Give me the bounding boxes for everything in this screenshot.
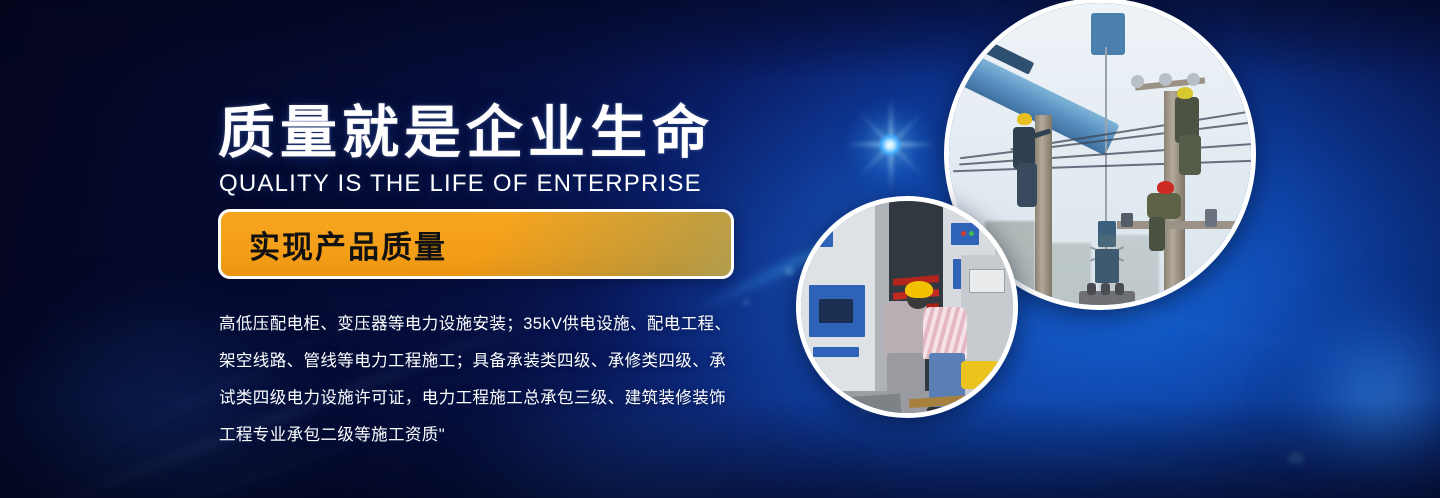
page-subtitle: QUALITY IS THE LIFE OF ENTERPRISE [219,170,702,198]
page-title: 质量就是企业生命 [218,104,714,164]
description-line: 架空线路、管线等电力工程施工；具备承装类四级、承修类四级、承 [219,343,779,380]
switchgear-workers-photo [796,196,1018,418]
description-line: 高低压配电柜、变压器等电力设施安装；35kV供电设施、配电工程、 [219,306,779,343]
description-paragraph: 高低压配电柜、变压器等电力设施安装；35kV供电设施、配电工程、 架空线路、管线… [219,306,779,454]
description-line: 试类四级电力设施许可证，电力工程施工总承包三级、建筑装修装饰 [219,380,779,417]
cta-button[interactable]: 实现产品质量 [218,209,734,279]
description-line: 工程专业承包二级等施工资质" [219,417,779,454]
cta-button-label: 实现产品质量 [249,222,447,267]
promotional-banner: 质量就是企业生命 QUALITY IS THE LIFE OF ENTERPRI… [0,0,1440,498]
